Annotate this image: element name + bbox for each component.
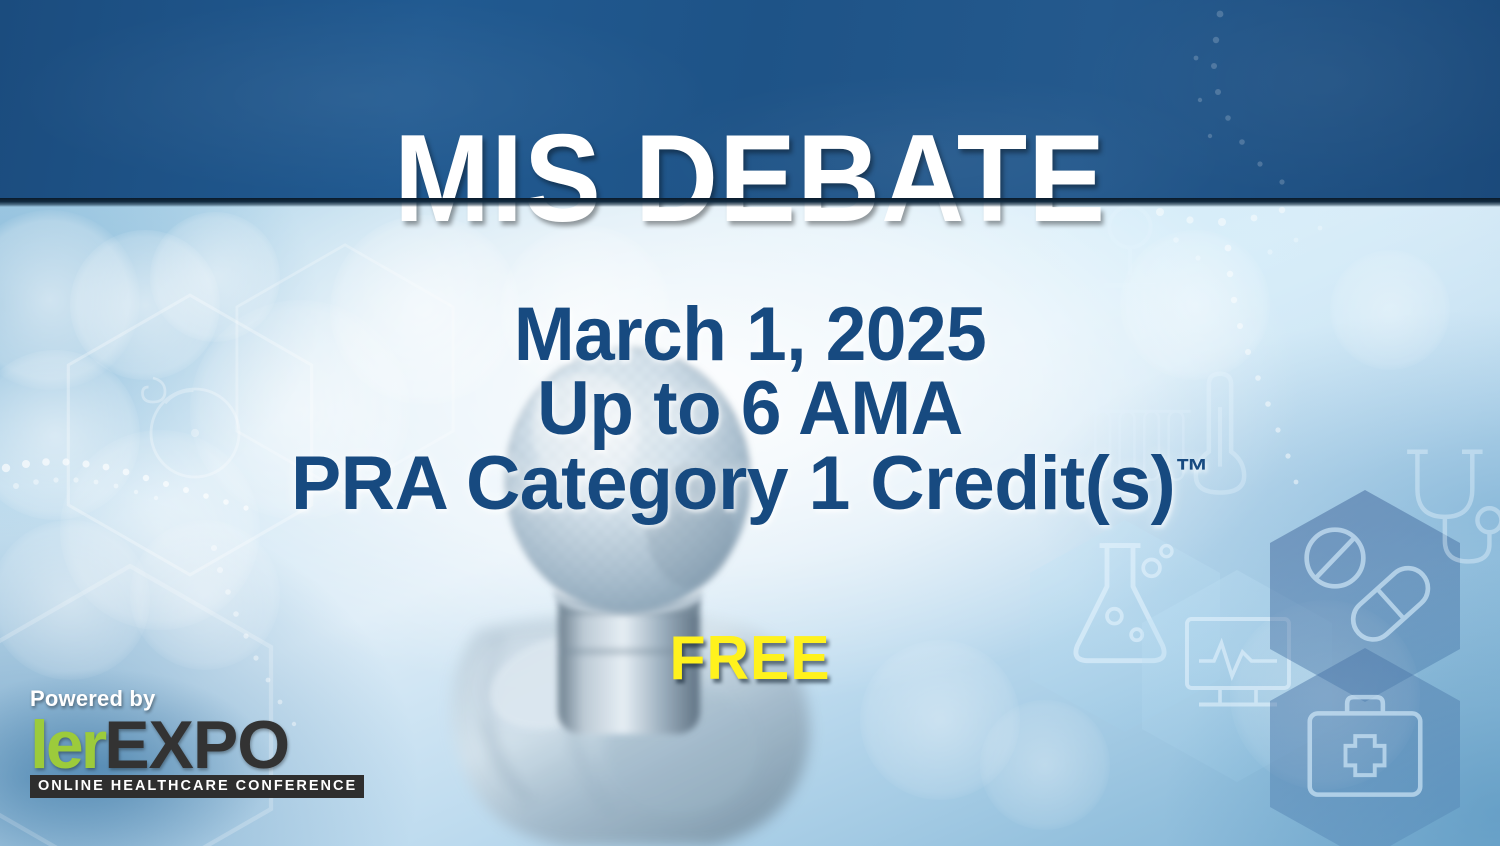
page-title: MIS DEBATE [53, 117, 1448, 241]
header-divider-line [0, 198, 1500, 207]
brand-wordmark: lerEXPO [30, 716, 300, 774]
banner-stage: MIS DEBATE March 1, 2025 Up to 6 AMA PRA… [0, 0, 1500, 846]
trademark-symbol: ™ [1175, 453, 1209, 491]
brand-ler: ler [30, 707, 104, 783]
credit-type-text: PRA Category 1 Credit(s) [291, 441, 1175, 526]
sponsor-logo[interactable]: Powered by lerEXPO ONLINE HEALTHCARE CON… [30, 688, 300, 798]
event-details: March 1, 2025 Up to 6 AMA PRA Category 1… [0, 296, 1500, 523]
price-badge: FREE [38, 628, 1463, 690]
credit-hours: Up to 6 AMA [30, 370, 1470, 448]
brand-expo: EXPO [104, 707, 289, 783]
credit-type: PRA Category 1 Credit(s)™ [8, 445, 1493, 523]
event-date: March 1, 2025 [30, 296, 1470, 374]
brand-tagline: ONLINE HEALTHCARE CONFERENCE [30, 775, 364, 798]
